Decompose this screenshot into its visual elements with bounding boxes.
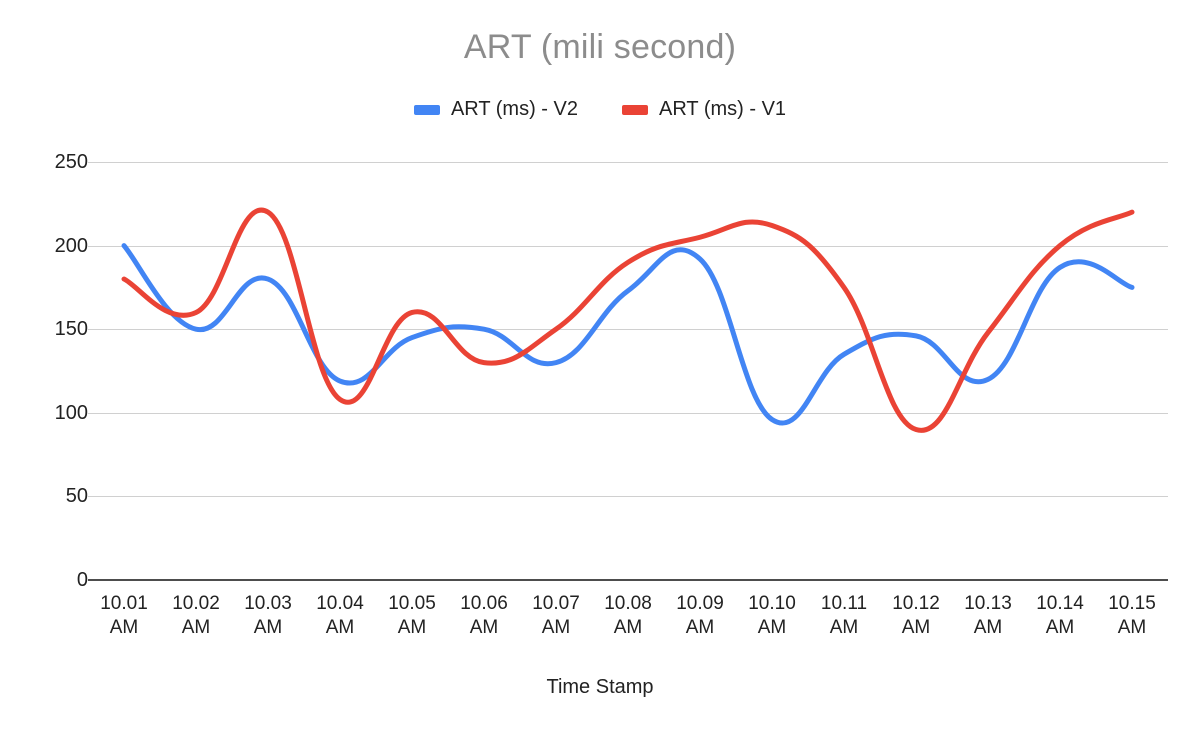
x-tick-time: 10.02 <box>160 592 232 616</box>
x-tick-meridiem: AM <box>1096 616 1168 640</box>
x-axis-tick-label: 10.02AM <box>160 592 232 640</box>
x-tick-meridiem: AM <box>448 616 520 640</box>
series-line-v1[interactable] <box>124 210 1132 430</box>
x-axis-tick-label: 10.12AM <box>880 592 952 640</box>
y-axis-tick-label: 150 <box>0 319 88 339</box>
x-axis-tick-label: 10.11AM <box>808 592 880 640</box>
x-tick-meridiem: AM <box>232 616 304 640</box>
x-tick-time: 10.05 <box>376 592 448 616</box>
x-tick-meridiem: AM <box>736 616 808 640</box>
x-axis-tick-label: 10.10AM <box>736 592 808 640</box>
y-axis-tick-label: 0 <box>0 570 88 590</box>
x-axis-tick-label: 10.03AM <box>232 592 304 640</box>
chart-container: ART (mili second) ART (ms) - V2ART (ms) … <box>0 0 1200 742</box>
x-axis-tick-label: 10.09AM <box>664 592 736 640</box>
x-tick-meridiem: AM <box>880 616 952 640</box>
x-axis-tick-label: 10.13AM <box>952 592 1024 640</box>
series-line-v2[interactable] <box>124 246 1132 423</box>
x-tick-meridiem: AM <box>592 616 664 640</box>
x-axis-tick-label: 10.07AM <box>520 592 592 640</box>
x-tick-meridiem: AM <box>808 616 880 640</box>
x-tick-meridiem: AM <box>88 616 160 640</box>
legend-swatch-icon <box>622 105 648 115</box>
chart-legend: ART (ms) - V2ART (ms) - V1 <box>0 98 1200 121</box>
x-axis-title: Time Stamp <box>0 676 1200 699</box>
x-tick-time: 10.15 <box>1096 592 1168 616</box>
x-axis-tick-label: 10.14AM <box>1024 592 1096 640</box>
series-lines <box>88 162 1168 580</box>
legend-item-v1[interactable]: ART (ms) - V1 <box>622 98 786 121</box>
x-axis-tick-label: 10.08AM <box>592 592 664 640</box>
x-tick-time: 10.11 <box>808 592 880 616</box>
legend-swatch-icon <box>414 105 440 115</box>
x-tick-time: 10.04 <box>304 592 376 616</box>
x-tick-meridiem: AM <box>160 616 232 640</box>
x-tick-time: 10.06 <box>448 592 520 616</box>
x-tick-meridiem: AM <box>376 616 448 640</box>
x-tick-time: 10.03 <box>232 592 304 616</box>
x-axis-tick-label: 10.15AM <box>1096 592 1168 640</box>
legend-label: ART (ms) - V1 <box>659 98 786 121</box>
x-tick-meridiem: AM <box>664 616 736 640</box>
x-axis-tick-label: 10.01AM <box>88 592 160 640</box>
y-axis-tick-label: 200 <box>0 236 88 256</box>
x-axis-labels: 10.01AM10.02AM10.03AM10.04AM10.05AM10.06… <box>88 592 1168 640</box>
x-tick-time: 10.07 <box>520 592 592 616</box>
y-axis-tick-label: 100 <box>0 403 88 423</box>
y-axis-tick-label: 50 <box>0 486 88 506</box>
x-axis-tick-label: 10.06AM <box>448 592 520 640</box>
x-axis-tick-label: 10.05AM <box>376 592 448 640</box>
legend-label: ART (ms) - V2 <box>451 98 578 121</box>
x-tick-time: 10.10 <box>736 592 808 616</box>
x-tick-meridiem: AM <box>304 616 376 640</box>
x-tick-meridiem: AM <box>952 616 1024 640</box>
x-tick-time: 10.12 <box>880 592 952 616</box>
x-tick-time: 10.08 <box>592 592 664 616</box>
x-axis-tick-label: 10.04AM <box>304 592 376 640</box>
chart-title: ART (mili second) <box>0 28 1200 67</box>
x-tick-meridiem: AM <box>1024 616 1096 640</box>
x-tick-time: 10.09 <box>664 592 736 616</box>
y-axis-tick-label: 250 <box>0 152 88 172</box>
plot-area <box>88 162 1168 580</box>
x-tick-time: 10.14 <box>1024 592 1096 616</box>
x-tick-meridiem: AM <box>520 616 592 640</box>
x-tick-time: 10.01 <box>88 592 160 616</box>
x-tick-time: 10.13 <box>952 592 1024 616</box>
legend-item-v2[interactable]: ART (ms) - V2 <box>414 98 578 121</box>
